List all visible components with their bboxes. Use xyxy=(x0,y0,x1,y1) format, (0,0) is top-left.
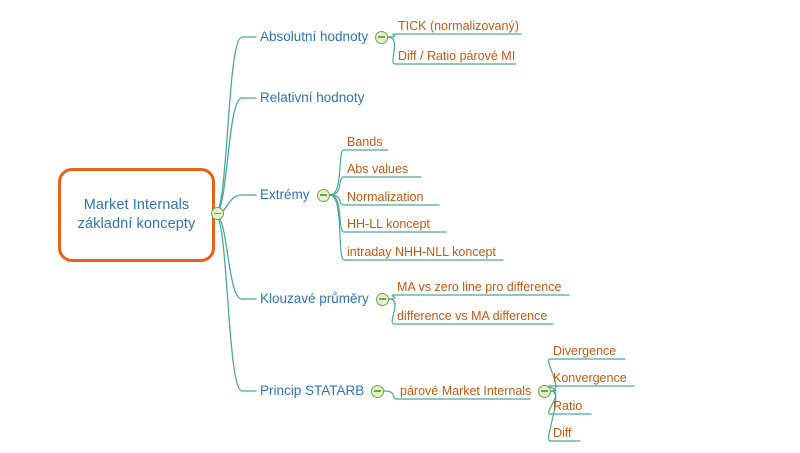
node-hh-ll-koncept[interactable]: HH-LL koncept xyxy=(347,216,430,232)
root-node[interactable]: Market Internals základní koncepty xyxy=(58,168,215,262)
node-difference-vs-ma-difference[interactable]: difference vs MA difference xyxy=(397,308,547,324)
node-konvergence[interactable]: Konvergence xyxy=(553,370,627,386)
node-diff[interactable]: Diff xyxy=(553,425,572,441)
node-tick-normalizovan[interactable]: TICK (normalizovaný) xyxy=(398,18,519,34)
node-divergence[interactable]: Divergence xyxy=(553,343,616,359)
node-diff-ratio-p-rov-mi[interactable]: Diff / Ratio párové MI xyxy=(398,48,515,64)
node-normalization[interactable]: Normalization xyxy=(347,189,423,205)
branch-klouzav-pr-m-ry-collapse-toggle[interactable] xyxy=(376,293,389,306)
branch-extr-my-collapse-toggle[interactable] xyxy=(317,189,330,202)
node-bands[interactable]: Bands xyxy=(347,134,382,150)
mindmap-canvas: Market Internals základní koncepty Absol… xyxy=(0,0,800,453)
node-intraday-nhh-nll-koncept[interactable]: intraday NHH-NLL koncept xyxy=(347,244,496,260)
node-extr-my[interactable]: Extrémy xyxy=(260,187,310,203)
branch-p-rov-market-internals-collapse-toggle[interactable] xyxy=(538,385,551,398)
root-title-line-1: Market Internals xyxy=(84,196,190,215)
node-relativn-hodnoty[interactable]: Relativní hodnoty xyxy=(260,90,364,106)
node-princip-statarb[interactable]: Princip STATARB xyxy=(260,383,364,399)
branch-princip-statarb-collapse-toggle[interactable] xyxy=(371,385,384,398)
node-p-rov-market-internals[interactable]: párové Market Internals xyxy=(400,383,531,399)
root-collapse-toggle[interactable] xyxy=(211,207,224,220)
root-title-line-2: základní koncepty xyxy=(78,215,196,234)
node-ratio[interactable]: Ratio xyxy=(553,398,582,414)
node-absolutn-hodnoty[interactable]: Absolutní hodnoty xyxy=(260,29,368,45)
branch-absolutn-hodnoty-collapse-toggle[interactable] xyxy=(375,31,388,44)
node-klouzav-pr-m-ry[interactable]: Klouzavé průměry xyxy=(260,291,369,307)
node-ma-vs-zero-line-pro-difference[interactable]: MA vs zero line pro difference xyxy=(397,279,561,295)
node-abs-values[interactable]: Abs values xyxy=(347,161,408,177)
